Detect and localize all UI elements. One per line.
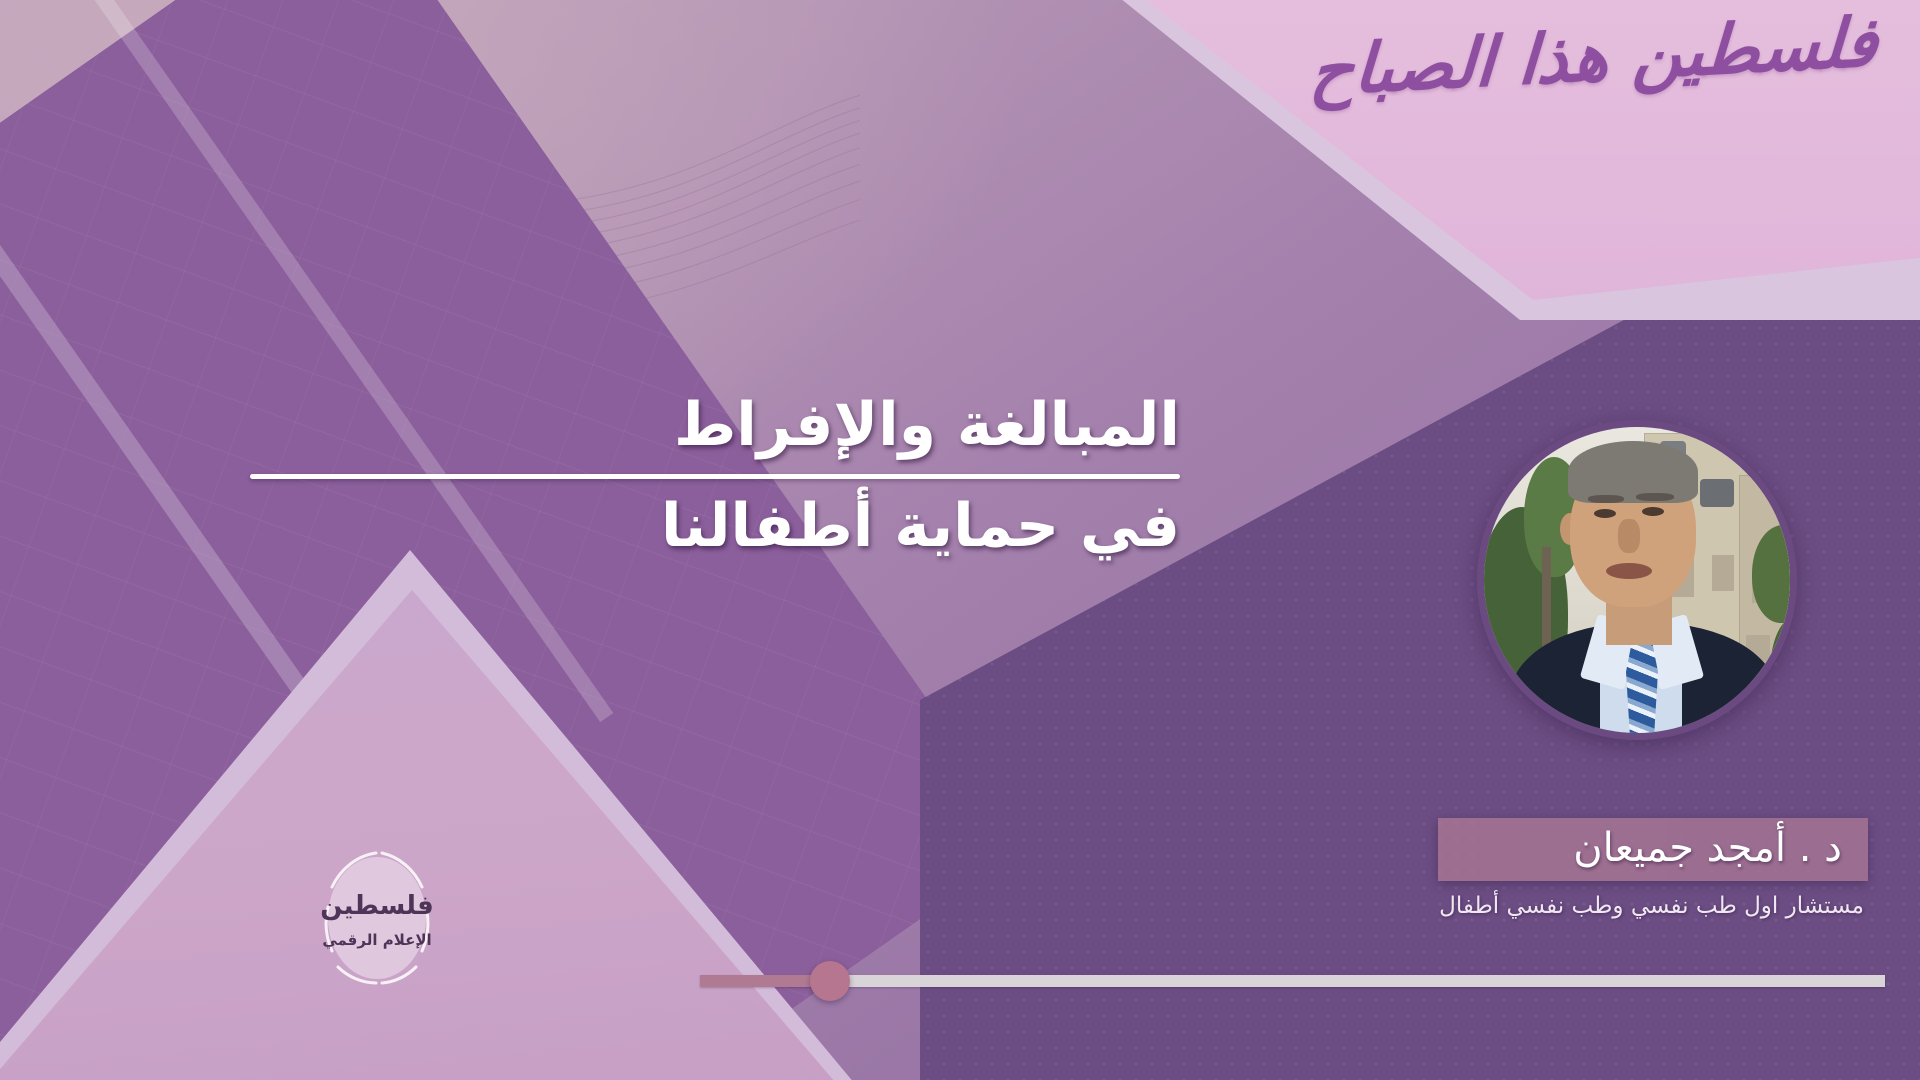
- broadcast-frame: فلسطين هذا الصباح المبالغة والإفراط في ح…: [0, 0, 1920, 1080]
- guest-name-banner: د . أمجد جميعان: [1438, 818, 1868, 881]
- guest-role: مستشار اول طب نفسي وطب نفسي أطفال: [1439, 893, 1864, 919]
- portrait-eyebrow-right: [1636, 493, 1674, 501]
- progress-track[interactable]: [700, 975, 1885, 987]
- portrait-window: [1712, 555, 1734, 591]
- watermark-tagline: الإعلام الرقمي: [302, 931, 452, 949]
- portrait-nose: [1618, 519, 1640, 553]
- video-progress-bar[interactable]: [700, 975, 1885, 987]
- portrait-eye-right: [1642, 507, 1664, 516]
- guest-name: د . أمجد جميعان: [1464, 826, 1842, 871]
- watermark-logo: فلسطين الإعلام الرقمي: [302, 843, 452, 993]
- portrait-eyebrow-left: [1588, 495, 1624, 503]
- watermark-brand: فلسطين: [302, 891, 452, 921]
- portrait-eye-left: [1594, 509, 1616, 518]
- portrait-water-tank: [1700, 479, 1734, 507]
- program-title-block: المبالغة والإفراط في حماية أطفالنا: [250, 390, 1180, 562]
- page-title-line-1: المبالغة والإفراط: [250, 390, 1180, 461]
- title-divider: [250, 474, 1180, 479]
- guest-portrait-avatar: [1477, 420, 1797, 740]
- page-title-line-2: في حماية أطفالنا: [250, 491, 1180, 562]
- portrait-mouth: [1606, 563, 1652, 579]
- portrait-hair: [1568, 441, 1698, 503]
- progress-handle[interactable]: [810, 961, 850, 1001]
